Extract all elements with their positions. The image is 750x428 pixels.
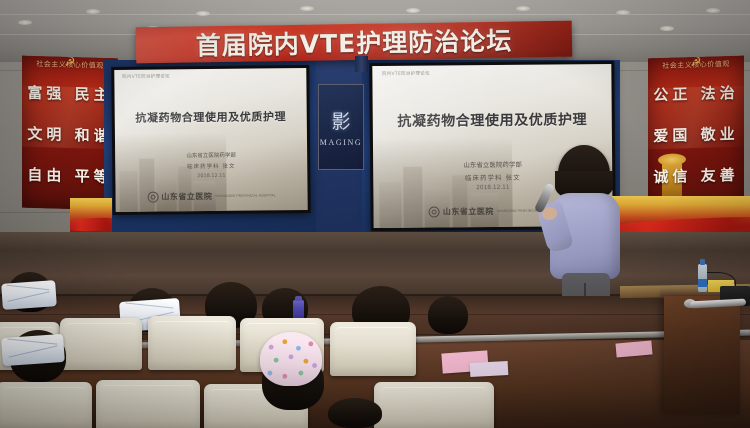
slide-subtitle-presenter: 临床药学科 张文 [115, 161, 307, 171]
slide-header-text: 院内VTE防治护理论坛 [382, 70, 430, 76]
audience-seat [374, 382, 494, 428]
imaging-sign-word: MAGING [320, 138, 363, 147]
conference-hall-photo: ☭ 社会主义核心价值观 富强 民主 文明 和谐 自由 平等 ☭ 社会主义核心价值… [0, 0, 750, 428]
ceiling-light [660, 26, 674, 31]
podium-cabinet [664, 296, 740, 414]
ceiling-light [196, 11, 210, 16]
ceiling-light [406, 8, 420, 13]
poster-value-line: 爱国 敬业 [653, 123, 738, 146]
hospital-logo-icon [147, 192, 158, 203]
hospital-logo-cn: 山东省立医院 [443, 206, 494, 217]
ceiling-light [18, 20, 32, 25]
desk-paper [470, 361, 509, 377]
banner-center-pole [355, 56, 368, 72]
poster-value-line: 自由 平等 [27, 164, 112, 187]
nurse-cap [1, 334, 65, 366]
audience-seat [60, 318, 142, 370]
poster-header-right: 社会主义核心价值观 [648, 59, 744, 72]
imaging-wall-sign: 影 MAGING [318, 84, 364, 170]
slide-subtitle-department: 山东省立医院药学部 [115, 150, 307, 160]
nurse-cap [1, 280, 57, 310]
poster-socialist-values-right: ☭ 社会主义核心价值观 公正 法治 爱国 敬业 诚信 友善 [648, 56, 744, 211]
ceiling-light [86, 9, 100, 14]
ceiling-light [300, 6, 314, 11]
audience-head [428, 296, 468, 334]
slide-title: 抗凝药物合理使用及优质护理 [115, 108, 307, 126]
audience-seat [330, 322, 416, 376]
ceiling-light [706, 8, 720, 13]
event-banner: 首届院内VTE护理防治论坛 [136, 21, 573, 64]
floral-surgical-cap [260, 332, 322, 386]
poster-value-line: 诚信 友善 [653, 164, 738, 187]
water-bottle-podium [698, 264, 707, 292]
audience-seat [148, 316, 236, 370]
hospital-logo-en: SHANDONG PROVINCIAL HOSPITAL [215, 195, 276, 199]
slide-hospital-logo: 山东省立医院 SHANDONG PROVINCIAL HOSPITAL [116, 190, 308, 203]
hospital-logo-cn: 山东省立医院 [161, 191, 212, 203]
audience-seat [0, 382, 92, 428]
audience-seat [96, 380, 200, 428]
slide-title: 抗凝药物合理使用及优质护理 [373, 109, 612, 131]
poster-value-line: 公正 法治 [653, 82, 738, 105]
ying-glyph-icon: 影 [331, 107, 350, 134]
event-banner-title: 首届院内VTE护理防治论坛 [195, 22, 512, 63]
hospital-logo-icon [429, 207, 440, 218]
audience-head [328, 398, 382, 428]
ceiling-light [616, 10, 630, 15]
poster-value-line: 富强 民主 [27, 82, 112, 105]
poster-value-line: 文明 和谐 [27, 123, 112, 146]
slide-subtitle-block: 山东省立医院药学部 临床药学科 张文 2018.12.11 [115, 150, 307, 180]
slide-left: 院内VTE防治护理论坛 抗凝药物合理使用及优质护理 山东省立医院药学部 临床药学… [114, 68, 307, 212]
slide-header-text: 院内VTE防治护理论坛 [122, 74, 170, 81]
ceiling-light [516, 6, 530, 11]
projection-screen-left: 院内VTE防治护理论坛 抗凝药物合理使用及优质护理 山东省立医院药学部 临床药学… [111, 65, 311, 215]
slide-subtitle-date: 2018.12.11 [115, 172, 307, 180]
